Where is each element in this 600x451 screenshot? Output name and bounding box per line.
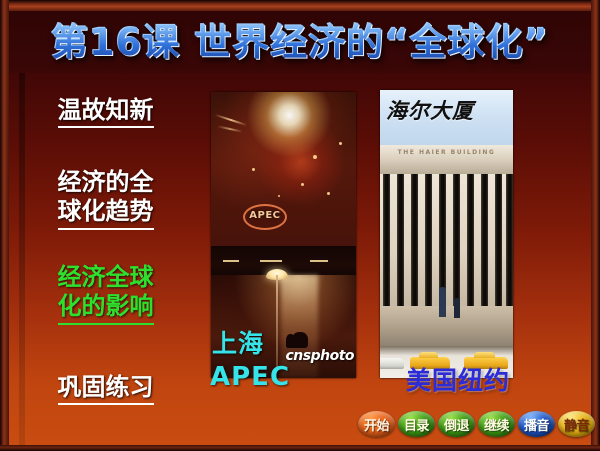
sidebar-item-globalization-trend[interactable]: 经济的全 球化趋势: [18, 168, 193, 230]
nav-button-sound-on[interactable]: 播音: [518, 411, 555, 437]
frame-border-left: [0, 0, 9, 451]
nav-button-back[interactable]: 倒退: [438, 411, 475, 437]
building-column: [397, 174, 404, 306]
sidebar-item-review[interactable]: 温故知新: [18, 96, 193, 128]
building-column: [481, 174, 488, 306]
pedestrian-silhouette: [454, 298, 460, 318]
presentation-slide: 第16课 世界经济的“全球化” 温故知新 经济的全 球化趋势 经济全球 化的影响…: [0, 0, 600, 451]
ship-light: [260, 260, 282, 262]
nav-button-contents[interactable]: 目录: [398, 411, 435, 437]
frame-border-right: [591, 0, 600, 451]
sidebar-item-exercises[interactable]: 巩固练习: [18, 373, 193, 405]
nav-button-mute[interactable]: 静音: [558, 411, 595, 437]
sidebar-item-review-label: 温故知新: [58, 96, 154, 128]
firework-spark: [252, 168, 255, 171]
fireworks-sky: [211, 92, 356, 258]
firework-streak: [214, 113, 247, 125]
sidebar-item-globalization-trend-line1: 经济的全: [18, 168, 193, 197]
photo-caption-newyork: 美国纽约: [406, 361, 510, 397]
navigation-bar: 开始 目录 倒退 继续 播音 静音: [358, 411, 595, 437]
firework-spark: [339, 142, 342, 145]
frame-border-top: [0, 0, 600, 11]
apec-logo: APEC: [243, 204, 287, 230]
ship-light: [310, 260, 328, 262]
nav-button-continue[interactable]: 继续: [478, 411, 515, 437]
sidebar-item-globalization-trend-line2: 球化趋势: [58, 197, 154, 229]
firework-spark: [301, 183, 304, 186]
photo-caption-apec: APEC: [210, 362, 290, 392]
page-title: 第16课 世界经济的“全球化”: [0, 12, 600, 66]
building-column: [439, 174, 446, 306]
frame-border-bottom: [0, 445, 600, 451]
building-column: [453, 174, 460, 306]
pedestrian-silhouette: [439, 287, 446, 317]
building-base: [380, 306, 513, 346]
sidebar-item-exercises-label: 巩固练习: [58, 373, 154, 405]
firework-spark: [278, 195, 280, 197]
firework-spark: [327, 192, 330, 195]
couple-silhouette: [292, 332, 308, 348]
photo-haier-building: 海尔大厦 THE HAIER BUILDING: [380, 90, 513, 378]
sidebar-item-globalization-impact-line2: 化的影响: [58, 292, 154, 324]
building-column: [425, 174, 432, 306]
sidebar-item-globalization-impact[interactable]: 经济全球 化的影响: [18, 263, 193, 325]
building-column: [467, 174, 474, 306]
sidebar-item-globalization-impact-line1: 经济全球: [18, 263, 193, 292]
haier-banner-text: 海尔大厦: [386, 95, 474, 125]
firework-streak: [217, 126, 243, 133]
building-column: [383, 174, 390, 306]
building-column: [506, 174, 513, 306]
photo-caption-shanghai: 上海: [212, 330, 264, 358]
nav-button-start[interactable]: 开始: [358, 411, 395, 437]
ship-light: [223, 260, 239, 262]
building-column: [411, 174, 418, 306]
building-colonnade: [380, 174, 513, 306]
building-engraved-name: THE HAIER BUILDING: [391, 149, 503, 156]
photo-watermark: cnsphoto: [285, 348, 354, 364]
building-column: [495, 174, 502, 306]
firework-spark: [313, 155, 317, 159]
white-car: [380, 358, 404, 369]
lamp-pole: [276, 275, 278, 367]
